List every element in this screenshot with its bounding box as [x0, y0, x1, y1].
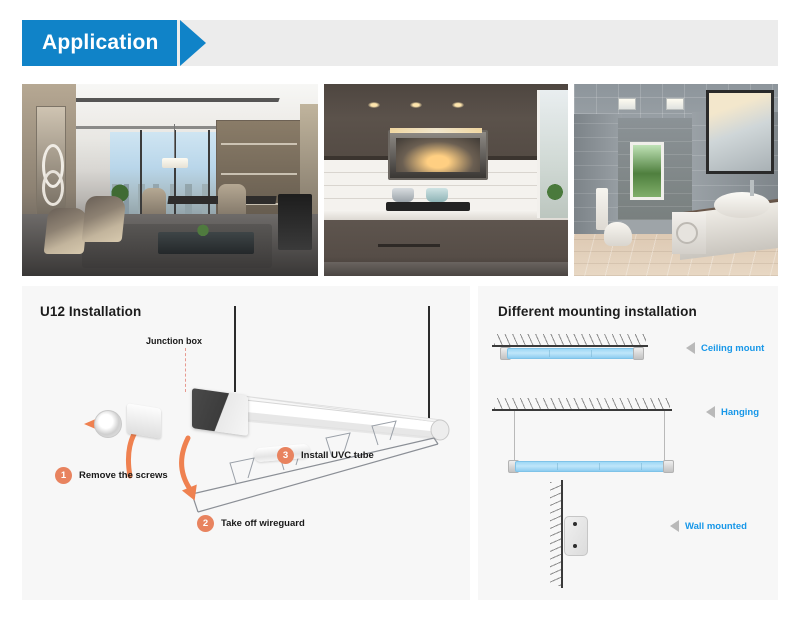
wall-line — [561, 480, 563, 588]
office-tv — [278, 194, 312, 250]
ceiling-line-2 — [492, 409, 672, 411]
photo-bathroom-interior — [574, 84, 778, 276]
kitchen-pot-1 — [392, 188, 414, 202]
installation-panels: U12 Installation Junction box — [22, 286, 778, 600]
bracket-screw-top — [573, 522, 577, 526]
bathroom-toilet-tank — [596, 188, 608, 230]
mount-option-wall: Wall mounted — [478, 476, 778, 586]
ceiling-uvc-tube — [507, 348, 637, 359]
office-shelf-line-2 — [221, 173, 297, 175]
kitchen-drawer-handle — [378, 244, 440, 247]
step-1-label: Remove the screws — [79, 470, 168, 481]
step-3: 3 Install UVC tube — [277, 447, 374, 464]
fixture-end-cap-disc — [94, 410, 122, 438]
hanging-tube-cap-right — [663, 460, 674, 473]
photo-kitchen-interior — [324, 84, 568, 276]
mounting-installation-diagram: Ceiling mount Hanging — [478, 286, 778, 600]
kitchen-window-plant — [544, 180, 566, 200]
kitchen-range-hood — [388, 130, 488, 180]
bathroom-mirror — [706, 90, 774, 174]
pointer-triangle-icon — [670, 520, 679, 532]
header-arrow-icon — [180, 20, 206, 66]
bathroom-toilet — [604, 222, 632, 246]
label-ceiling-mount: Ceiling mount — [686, 342, 764, 354]
panel-u12-installation: U12 Installation Junction box — [22, 286, 470, 600]
kitchen-spotlight-1 — [368, 102, 380, 108]
mount-option-ceiling: Ceiling mount — [478, 334, 778, 374]
pointer-triangle-icon — [686, 342, 695, 354]
label-ceiling-mount-text: Ceiling mount — [701, 343, 764, 354]
kitchen-pot-2 — [426, 188, 448, 202]
u12-installation-diagram: Junction box — [22, 286, 470, 600]
kitchen-hood-glass — [396, 138, 480, 172]
label-wall-mounted: Wall mounted — [670, 520, 747, 532]
step-1: 1 Remove the screws — [55, 467, 168, 484]
bracket-screw-bottom — [573, 544, 577, 548]
application-photo-row — [22, 84, 778, 276]
step-3-badge: 3 — [277, 447, 294, 464]
label-wall-mounted-text: Wall mounted — [685, 521, 747, 532]
hanging-uvc-tube — [515, 461, 667, 472]
ceiling-line-1 — [492, 345, 648, 347]
photo-office-interior — [22, 84, 318, 276]
junction-box — [192, 388, 248, 436]
kitchen-spotlight-2 — [410, 102, 422, 108]
bathroom-ceiling-light-1 — [618, 98, 636, 110]
step-1-badge: 1 — [55, 467, 72, 484]
office-window-mullion-3 — [208, 130, 210, 226]
office-recliner-2 — [82, 196, 127, 242]
office-ceiling-light-slot — [63, 98, 279, 102]
label-hanging-text: Hanging — [721, 407, 759, 418]
fixture-end-cap — [127, 403, 161, 438]
office-sculpture-bottom — [42, 170, 64, 206]
fixture-body-svg — [22, 286, 470, 600]
kitchen-floor — [324, 262, 568, 276]
label-hanging: Hanging — [706, 406, 759, 418]
step-2-badge: 2 — [197, 515, 214, 532]
ceiling-hatch-2 — [494, 398, 670, 409]
ceiling-hatch-1 — [494, 334, 646, 345]
section-header-tag: Application — [22, 20, 177, 66]
ceiling-tube-cap-right — [633, 347, 644, 360]
step-2-label: Take off wireguard — [221, 518, 305, 529]
office-table-plant — [194, 222, 212, 236]
step-2: 2 Take off wireguard — [197, 515, 305, 532]
office-pendant-lamp — [162, 158, 188, 168]
kitchen-spotlight-3 — [452, 102, 464, 108]
panel-mounting-installation: Different mounting installation Ceiling … — [478, 286, 778, 600]
suspension-wire-right — [664, 411, 665, 463]
kitchen-cooktop — [386, 202, 470, 211]
bathroom-ceiling-light-2 — [666, 98, 684, 110]
section-title: Application — [42, 31, 159, 55]
panel-divider — [470, 286, 478, 600]
wall-mount-bracket — [564, 516, 588, 556]
pointer-triangle-icon — [706, 406, 715, 418]
suspension-wire-left — [514, 411, 515, 463]
kitchen-hood-lights — [390, 128, 482, 133]
kitchen-countertop — [324, 210, 568, 220]
step-3-label: Install UVC tube — [301, 450, 374, 461]
bathroom-window — [630, 142, 664, 200]
office-shelf-line-1 — [221, 143, 297, 145]
mount-option-hanging: Hanging — [478, 398, 778, 488]
bathroom-washer-door — [676, 222, 698, 244]
section-header-bar: Application — [22, 20, 778, 66]
bathroom-vessel-sink — [714, 192, 770, 218]
office-pendant-wire — [174, 124, 175, 160]
wall-hatch — [550, 482, 561, 586]
bathroom-faucet — [750, 180, 754, 196]
